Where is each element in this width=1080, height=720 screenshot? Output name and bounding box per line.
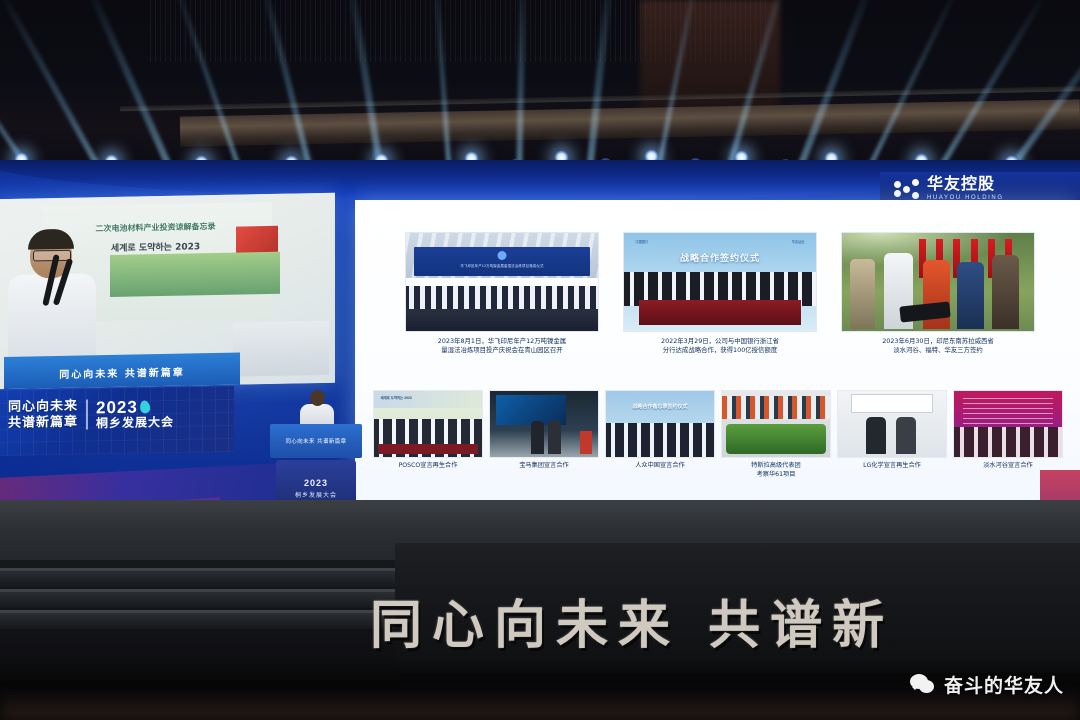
- banner-line2: 共谱新篇章: [8, 415, 78, 432]
- slide-photo-caption: 2022年3月29日，公司与中国银行浙江省分行达成战略合作，获得100亿授信额度: [623, 337, 817, 356]
- group-photo-indonesia-nickel-project: 华飞印尼年产12万吨镍金属量湿法冶炼项目落成仪式: [405, 232, 599, 332]
- slide-photo-caption: 人众中国宣言合作: [605, 462, 715, 471]
- volkswagen-china-signing-photo: 战略合作备忘录签约仪式: [605, 390, 715, 458]
- stage-steps: [0, 568, 405, 632]
- caption-line: 2023年8月1日，华飞印尼年产12万吨镍金属: [405, 337, 599, 346]
- caption-line: 特斯拉高级代表团: [721, 462, 831, 471]
- brand-name-cn: 华友控股: [927, 177, 1004, 193]
- indonesia-government-ceremony: [841, 232, 1035, 332]
- caption-line: 宝马集团宣言合作: [489, 462, 599, 471]
- slide-photo-card: 세계로 도약하는 2023POSCO宣言再生合作: [373, 390, 483, 500]
- slide-photo-caption: 2023年6月30日，印尼东南苏拉威西省淡水河谷、福特、华友三方签约: [841, 337, 1035, 356]
- caption-line: POSCO宣言再生合作: [373, 462, 483, 471]
- stage-step-edge: [0, 589, 405, 592]
- caption-line: 2023年6月30日，印尼东南苏拉威西省: [841, 337, 1035, 346]
- banner-year: 2023: [96, 398, 138, 416]
- caption-line: 淡水河谷、福特、华友三方签约: [841, 346, 1035, 355]
- banner-line1: 同心向未来: [8, 399, 78, 416]
- left-screen-live-feed: 二次电池材料产业投资谅解备忘录 세계로 도약하는 2023 同心向未来 共谱新篇…: [0, 193, 335, 390]
- bank-of-china-signing-ceremony: 中国银行华友钴业战略合作签约仪式: [623, 232, 817, 332]
- slide-photo-card: 华飞印尼年产12万吨镍金属量湿法冶炼项目落成仪式2023年8月1日，华飞印尼年产…: [405, 232, 599, 372]
- watermark-text: 奋斗的华友人: [944, 671, 1064, 698]
- slide-photo-caption: POSCO宣言再生合作: [373, 462, 483, 471]
- podium-subtitle: 桐乡发展大会: [295, 490, 337, 499]
- slide-photo-card: 中国银行华友钴业战略合作签约仪式2022年3月29日，公司与中国银行浙江省分行达…: [623, 232, 817, 372]
- presentation-stage-photo: 华友控股 HUAYOU HOLDING 二次电池材料产业投资谅解备忘录 세계로 …: [0, 0, 1080, 720]
- podium-top-text: 同心向未来 共谱新篇章: [285, 437, 346, 445]
- stage-step-edge: [0, 568, 405, 571]
- slide-photo-card: 宝马集团宣言合作: [489, 390, 599, 500]
- caption-line: 2022年3月29日，公司与中国银行浙江省: [623, 337, 817, 346]
- caption-line: 人众中国宣言合作: [605, 462, 715, 471]
- slide-photo-card: 特斯拉高级代表团考察华61项目: [721, 390, 831, 500]
- caption-line: 分行达成战略合作，获得100亿授信额度: [623, 346, 817, 355]
- slide-photo-card: 2023年6月30日，印尼东南苏拉威西省淡水河谷、福特、华友三方签约: [841, 232, 1035, 372]
- caption-line: 考察华61项目: [721, 471, 831, 480]
- watermark: 奋斗的华友人: [910, 671, 1064, 698]
- stage-face-title-text: 同心向未来 共谱新: [370, 585, 894, 655]
- slide-photo-caption: 2023年8月1日，华飞印尼年产12万吨镍金属量湿法冶炼项目投产庆祝会在青山园区…: [405, 337, 599, 356]
- bmw-group-signing-photo: [489, 390, 599, 458]
- wechat-icon: [910, 674, 936, 696]
- slide-photo-card: LG化学宣言再生合作: [837, 390, 947, 500]
- speaker-figure: [12, 231, 90, 362]
- feed-side-panel: [233, 321, 329, 377]
- podium-year: 2023: [304, 478, 328, 488]
- slide-photo-caption: LG化学宣言再生合作: [837, 462, 947, 471]
- water-drop-icon: [139, 399, 151, 414]
- molecule-node-logo-icon: [894, 178, 920, 200]
- slide-photo-caption: 特斯拉高级代表团考察华61项目: [721, 462, 831, 480]
- stage-face-title: 同心向未来 共谱新: [370, 585, 1080, 655]
- feed-podium-banner: 同心向未来 共谱新篇章: [4, 353, 240, 390]
- banner-subtitle: 桐乡发展大会: [96, 414, 174, 430]
- presentation-slide: 华飞印尼年产12万吨镍金属量湿法冶炼项目落成仪式2023年8月1日，华飞印尼年产…: [355, 200, 1080, 515]
- tesla-delegation-site-visit-photo: [721, 390, 831, 458]
- slide-bottom-row: 세계로 도약하는 2023POSCO宣言再生合作宝马集团宣言合作战略合作备忘录签…: [373, 390, 1063, 500]
- feed-podium-text: 同心向未来 共谱新篇章: [59, 363, 184, 380]
- slide-photo-caption: 宝马集团宣言合作: [489, 462, 599, 471]
- slide-photo-card: 战略合作备忘录签约仪式人众中国宣言合作: [605, 390, 715, 500]
- conference-brand-banner: 同心向未来 共谱新篇章 2023 桐乡发展大会: [0, 386, 234, 456]
- stage-step-edge: [0, 610, 405, 613]
- feed-green-graphic: [110, 252, 280, 297]
- caption-line: LG化学宣言再生合作: [837, 462, 947, 471]
- banner-divider: [86, 400, 88, 430]
- posco-signing-photo: 세계로 도약하는 2023: [373, 390, 483, 458]
- lg-chem-signing-photo: [837, 390, 947, 458]
- vale-signing-photo: [953, 390, 1063, 458]
- caption-line: 量湿法冶炼项目投产庆祝会在青山园区召开: [405, 346, 599, 355]
- slide-top-row: 华飞印尼年产12万吨镍金属量湿法冶炼项目落成仪式2023年8月1日，华飞印尼年产…: [405, 232, 1035, 372]
- podium-top-banner: 同心向未来 共谱新篇章: [270, 424, 362, 458]
